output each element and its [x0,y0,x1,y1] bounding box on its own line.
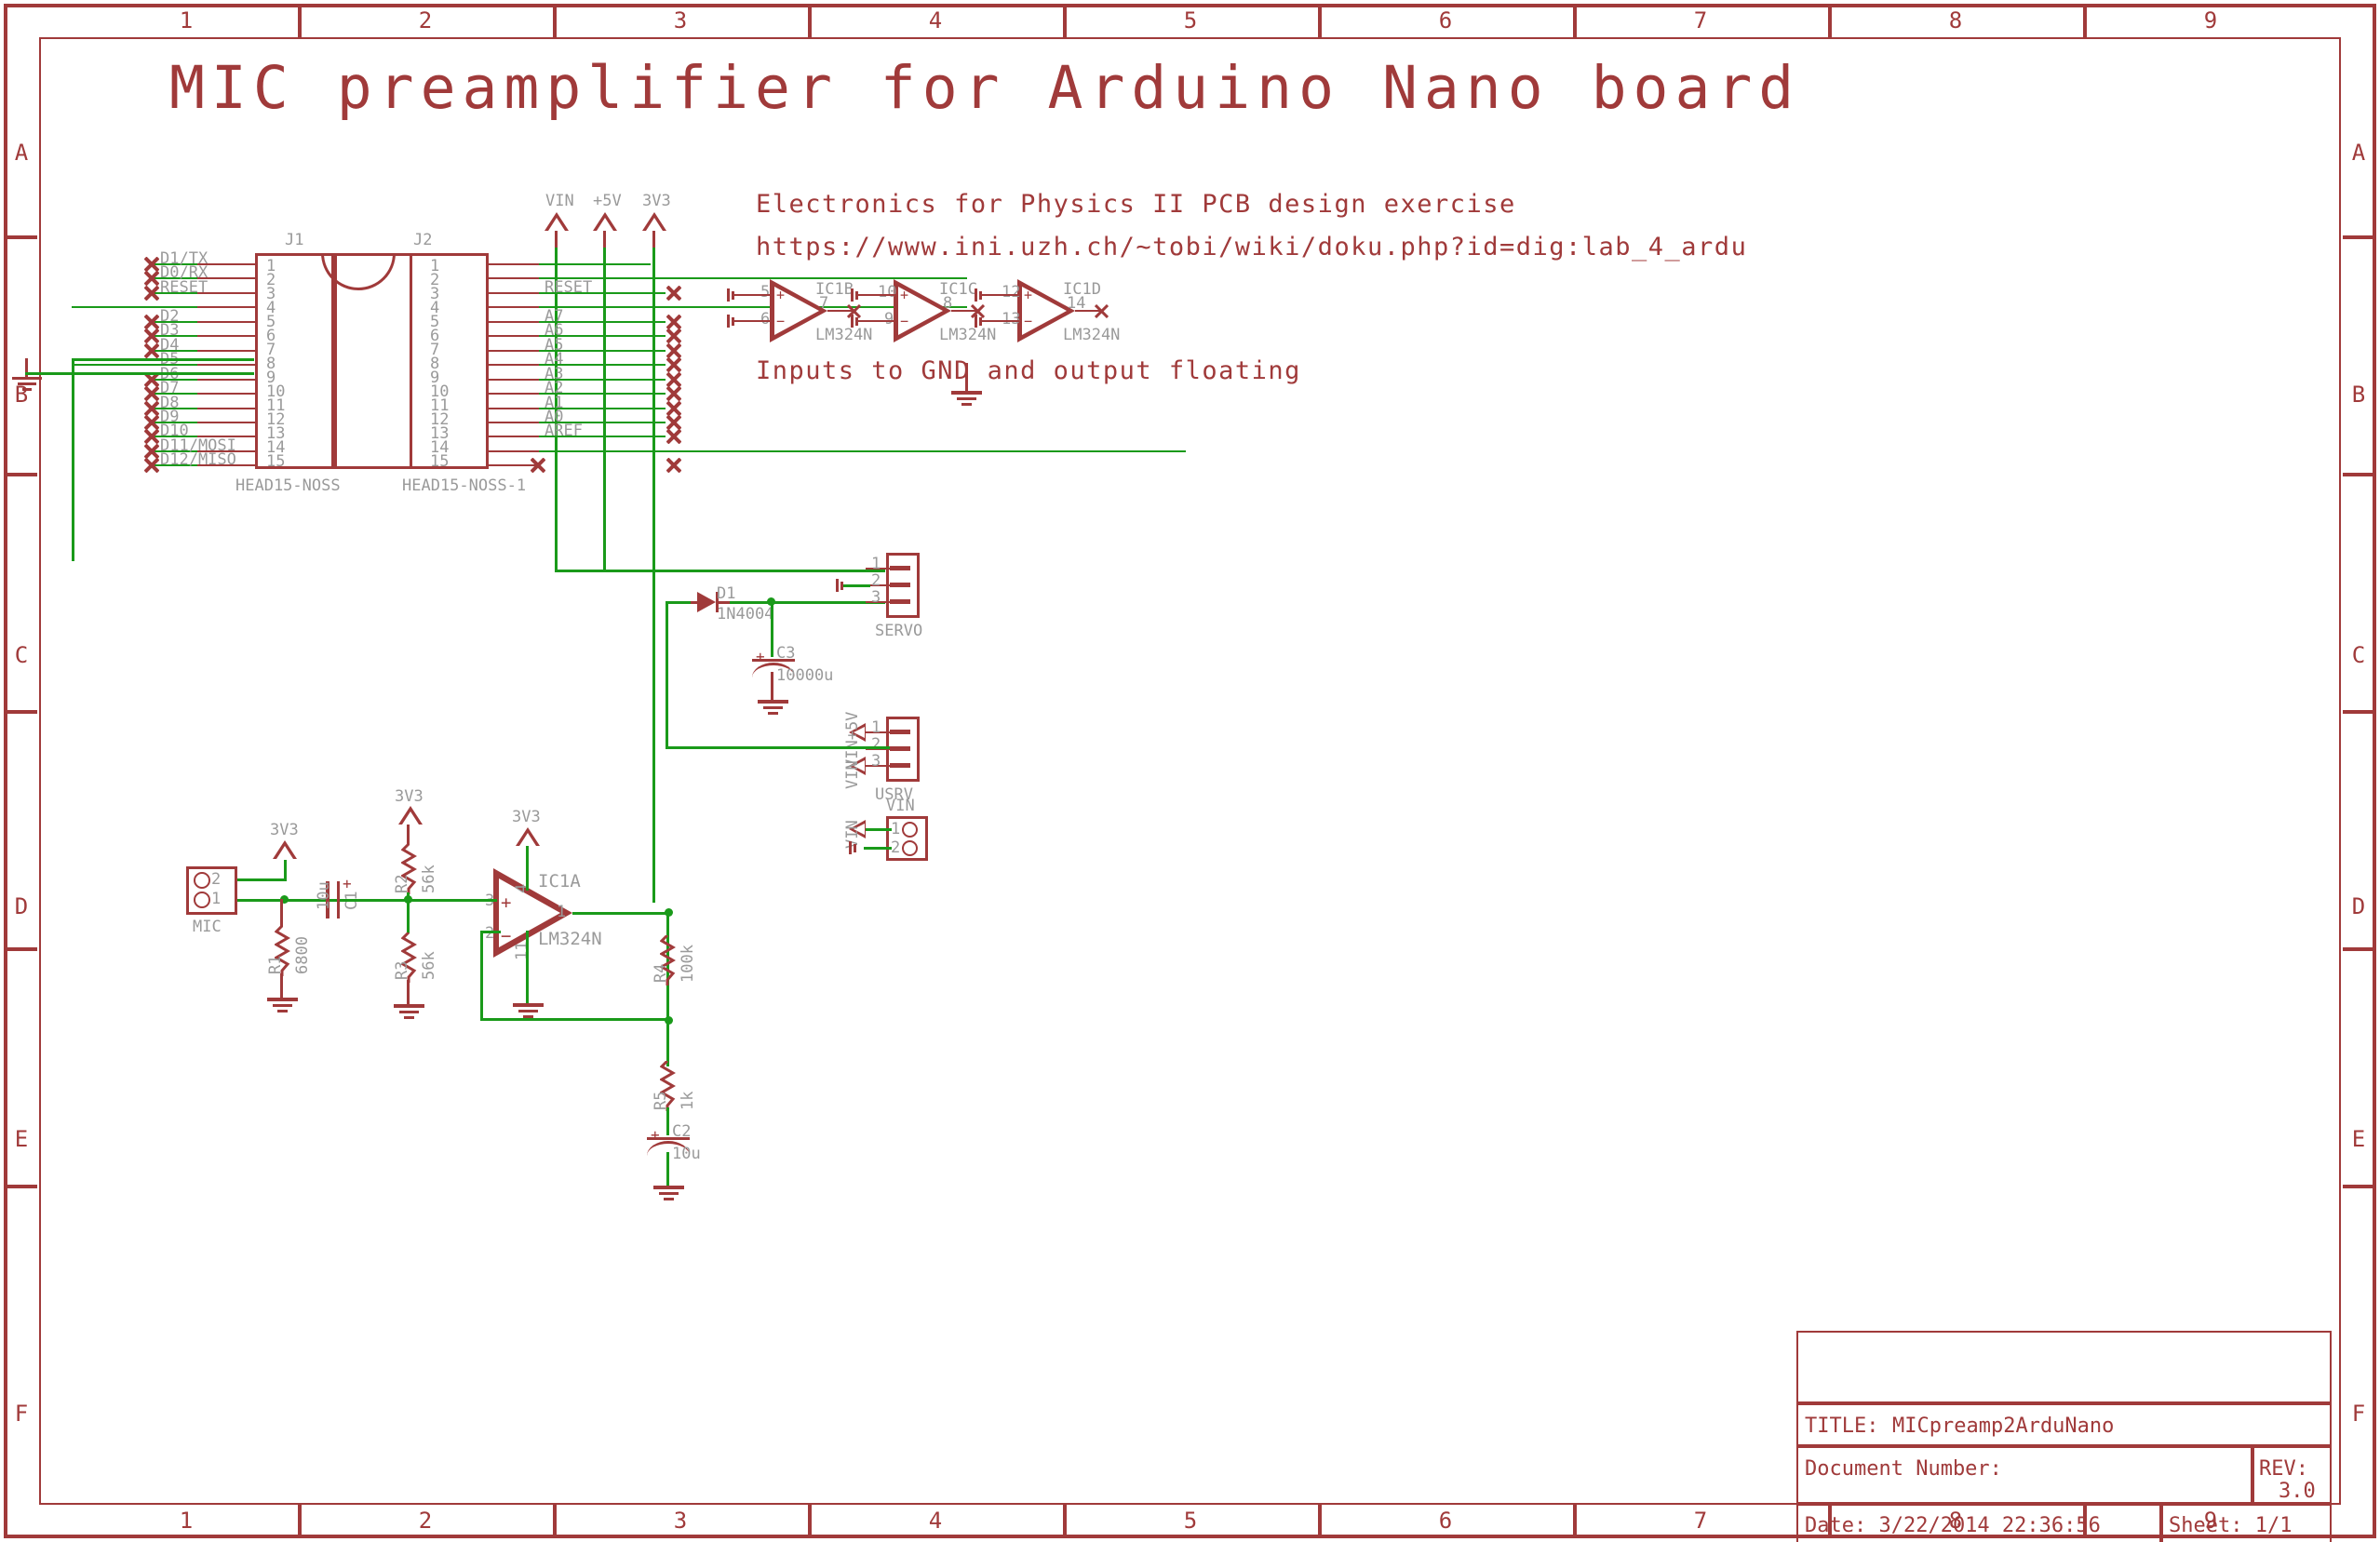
no-connect-marker [144,429,159,444]
j2-pin-stub [488,263,539,265]
j2-net-label: AREF [545,423,583,439]
v5-rail-stem [603,231,606,248]
ic1a-gnd-net [526,931,529,1003]
j1-pin-stub [196,364,256,366]
ruler-tick [2343,1185,2374,1188]
ruler-tick [6,235,37,239]
j2-pin-stub [488,408,539,409]
j1-pin-stub [196,379,256,381]
servo-pin: 2 [871,573,881,589]
ic1a-gnd-bar2 [518,1010,538,1012]
c3-bottom-lead [771,672,773,700]
j1-pin-stub [196,422,256,423]
ruler-row-f: F [6,1401,37,1427]
resistor-r2-value: 56k [422,865,437,893]
opamp-ic1c-minus-sign: − [900,315,908,329]
vin-pad-2 [902,840,918,856]
ruler-col-4-bottom: 4 [852,1508,1019,1534]
ruler-row-d: D [6,893,37,919]
ruler-tick [1573,1505,1577,1536]
ruler-tick [553,6,557,37]
ruler-col-5: 5 [1107,7,1274,34]
ruler-col-6: 6 [1362,7,1529,34]
ic1c-gnd-in1-bar1 [851,288,854,302]
connector-vin-ref: VIN [886,798,915,814]
resistor-r5-value: 1k [680,1092,696,1110]
no-connect-marker [666,429,681,444]
ic1b-gnd-in1-bar1 [727,288,730,302]
resistor-r3-value: 56k [422,951,437,980]
ruler-tick [6,473,37,476]
divider-3v3-rail-inner [402,811,419,825]
ruler-col-3: 3 [597,7,764,34]
j2-pin-stub [488,436,539,437]
resistor-r2-ref: R2 [395,875,410,893]
ruler-tick [6,947,37,951]
connector-mic-ref: MIC [193,919,222,935]
j2-pin-net [539,263,651,265]
mic-pin: 1 [211,892,221,907]
j2-pin-stub [488,321,539,323]
opamp-ic1c-in-minus-wire [856,320,895,322]
c2-gnd-bar3 [664,1198,674,1200]
j2-pin-stub [488,292,539,294]
j1-pin-stub [196,408,256,409]
c3-polarity: + [756,650,765,664]
gnd-symbol-bar3 [22,388,32,391]
vin-conn-lead-1 [864,828,892,831]
ruler-tick [808,6,812,37]
opamp-ic1d-device: LM324N [1063,328,1120,343]
gnd-net-to-symbol [25,372,74,375]
j2-pin-stub [488,335,539,337]
power-label-5v: +5V [593,194,622,209]
j2-pin-stub [488,422,539,423]
usrv-pin: 1 [871,720,881,736]
ic1a-vcc-net [526,846,529,891]
usrv-pad-1 [890,730,910,734]
j2-gnd-bar2 [957,397,976,400]
c3-gnd-bar1 [758,700,788,704]
opamp-ic1c-in-plus-wire [856,294,895,296]
v3v3-rail-stem [652,231,655,248]
ruler-tick [1573,6,1577,37]
j2-pin-stub [488,379,539,381]
schematic-sheet: 1 2 3 4 5 6 7 8 9 1 2 3 4 5 6 7 8 9 A B … [0,0,2380,1542]
no-connect-marker [531,458,545,473]
ruler-row-b: B [6,382,37,408]
ruler-row-a: A [6,140,37,166]
ruler-tick [1318,1505,1322,1536]
j1-pin-stub [196,321,256,323]
no-connect-marker [144,343,159,358]
usrv-pad-3 [890,763,910,768]
opamp-ic1a-device: LM324N [538,931,602,948]
header-j1-pin: 15 [266,454,285,470]
vin-conn-lead-2 [864,847,892,850]
ruler-row-a-right: A [2343,140,2374,166]
d1-ref: D1 [717,586,735,602]
ruler-col-1-bottom: 1 [102,1508,270,1534]
ruler-row-e: E [6,1126,37,1152]
ic1d-gnd-in1-bar1 [975,288,977,302]
ruler-col-1: 1 [102,7,270,34]
ruler-col-7-bottom: 7 [1617,1508,1784,1534]
ic1c-gnd-in1-bar2 [855,291,858,300]
opamp-ic1d-plus-sign: + [1024,288,1032,302]
ic1c-gnd-in2-bar1 [851,315,854,328]
opamp-ic1b-in-minus-wire [733,320,772,322]
j1-net-label: D12/MISO [160,452,236,468]
header-j2-device: HEAD15-NOSS-1 [402,478,526,494]
r2-lead-top [407,825,410,845]
opamp-ic1b-pin-plus: 5 [760,285,770,301]
mic-pad-1 [194,892,210,908]
opamp-ic1a-minus-sign: − [501,928,511,945]
capacitor-c1-value: 10u [316,881,332,910]
servo-pin: 3 [871,590,881,606]
ruler-tick [808,1505,812,1536]
ruler-col-2-bottom: 2 [342,1508,509,1534]
j2-pin-stub [488,277,539,279]
opamp-ic1d-in-minus-wire [980,320,1019,322]
no-connect-marker [666,372,681,387]
no-connect-marker [144,444,159,459]
opamp-ic1d-minus-sign: − [1024,315,1032,329]
mic-pin2-net [237,878,287,881]
ruler-tick [553,1505,557,1536]
opamp-ic1c-device: LM324N [939,328,996,343]
no-connect-marker [666,329,681,343]
gnd-symbol-bar1 [12,377,42,380]
v3v3-rail-inner [646,218,663,231]
title-block-rev-label: REV: [2259,1457,2308,1481]
vin-rail-inner [548,218,565,231]
usrv-pin2-net [666,746,890,749]
note-line-3: Inputs to GND and output floating [756,356,1301,385]
mic-3v3-label: 3V3 [270,823,299,838]
usrv-net-label-vin: VIN [845,760,861,789]
c2-gnd-bar2 [659,1192,679,1195]
title-block-title-value: MICpreamp2ArduNano [1892,1415,2114,1438]
r3-gnd-bar1 [394,1004,424,1008]
ic1a-feedback-net-up [480,931,483,1021]
no-connect-marker [666,458,681,473]
vin-pad-1 [902,822,918,838]
title-block-docnum-label: Document Number: [1805,1457,2002,1481]
j1-gnd-branch [72,364,155,366]
title-block: TITLE: MICpreamp2ArduNano Document Numbe… [1796,1331,2332,1531]
ruler-col-9: 9 [2127,7,2294,34]
resistor-r4-ref: R4 [653,964,669,983]
usrv-pad-2 [890,746,910,751]
ic1a-in-minus-net [480,931,501,933]
v5-rail-inner [597,218,613,231]
v5-rail-net [603,248,606,417]
c3-gnd-bar2 [763,706,783,709]
no-connect-marker [666,386,681,401]
mic-pin: 2 [211,872,221,888]
ic1b-gnd-in2-bar1 [727,315,730,328]
ruler-tick [2083,6,2087,37]
ruler-row-b-right: B [2343,382,2374,408]
servo-top-feed [624,570,885,572]
j2-gnd-bar3 [961,403,972,406]
ruler-tick [6,1185,37,1188]
opamp-ic1c-pin-plus: 10 [878,285,896,301]
divider-3v3-label: 3V3 [395,789,424,805]
usrv-pin: 2 [871,737,881,753]
no-connect-marker [144,401,159,416]
ruler-col-2: 2 [342,7,509,34]
ruler-col-7: 7 [1617,7,1784,34]
c2-bottom-net [666,1152,669,1186]
ic1b-out-nc-marker [847,304,861,318]
capacitor-c2-value: 10u [672,1146,701,1162]
d1-diode-triangle [697,592,716,612]
servo-pin2-gnd-net [842,584,870,587]
opamp-ic1b-in-plus-wire [733,294,772,296]
servo-pin: 1 [871,556,881,572]
j2-gnd-stem [965,363,968,391]
r1-gnd-bar2 [273,1004,292,1007]
r1-gnd-bar1 [267,998,298,1001]
resistor-r4-value: 100k [680,945,696,983]
ic1a-gnd-bar1 [513,1003,544,1007]
ruler-col-5-bottom: 5 [1107,1508,1274,1534]
ic1d-out-nc-marker [1095,304,1109,318]
ic1c-out-nc-marker [971,304,985,318]
ruler-row-c: C [6,642,37,668]
resistor-r1-value: 6800 [295,936,311,974]
opamp-ic1a-ref: IC1A [538,873,581,891]
no-connect-marker [666,401,681,416]
ruler-row-d-right: D [2343,893,2374,919]
d1-out-net [730,601,885,604]
v3v3-feed-long [652,558,655,903]
ruler-col-8: 8 [1872,7,2039,34]
r5-lead-top [666,1018,669,1066]
r1-lead-top [280,899,283,927]
no-connect-marker [666,343,681,358]
j2-pin-stub [488,364,539,366]
ruler-row-c-right: C [2343,642,2374,668]
vin-conn-gnd-bar2 [854,844,856,852]
power-label-3v3: 3V3 [642,194,671,209]
ic1c-gnd-in2-bar2 [855,317,858,326]
servo-pad-3 [890,599,910,604]
no-connect-marker [666,357,681,372]
no-connect-marker [144,458,159,473]
no-connect-marker [144,286,159,301]
j2-pin-stub [488,350,539,352]
r5-lead-bottom [666,1107,669,1135]
opamp-ic1b-device: LM324N [815,328,872,343]
ruler-row-f-right: F [2343,1401,2374,1427]
ruler-tick [2343,235,2374,239]
vin-conn-pin: 2 [891,840,900,856]
opamp-3v3-label: 3V3 [512,810,541,825]
c1-polarity: + [343,877,352,892]
title-block-sheet: Sheet: 1/1 [2169,1514,2292,1537]
no-connect-marker [144,257,159,272]
c3-top-net [771,601,773,657]
note-line-1: Electronics for Physics II PCB design ex… [756,190,1516,219]
no-connect-marker [666,315,681,329]
c3-value: 10000u [776,668,833,684]
ruler-tick [2343,947,2374,951]
ic1d-gnd-in2-bar2 [979,317,982,326]
servo-gnd-bar1 [836,579,839,592]
r3-gnd-bar3 [404,1016,414,1019]
ic1d-gnd-in1-bar2 [979,291,982,300]
gnd-symbol-bar2 [18,382,36,385]
j2-gnd-bar1 [951,391,982,395]
ruler-tick [1063,6,1067,37]
usrv-pin: 3 [871,754,881,770]
r1-lead-bottom [280,973,283,998]
ruler-row-e-right: E [2343,1126,2374,1152]
no-connect-marker [666,415,681,430]
ruler-col-4: 4 [852,7,1019,34]
note-line-2: https://www.ini.uzh.ch/~tobi/wiki/doku.p… [756,233,1747,261]
header-j2-ref: J2 [413,233,432,248]
power-label-vin: VIN [545,194,574,209]
ruler-tick [298,1505,302,1536]
no-connect-marker [144,415,159,430]
no-connect-marker [144,386,159,401]
sheet-title: MIC preamplifier for Arduino Nano board [169,54,1800,122]
j2-pin-net [539,450,1186,452]
j1-pin-stub [196,350,256,352]
vin-conn-pin: 1 [891,822,900,838]
j2-pin-stub [488,450,539,452]
ic1b-gnd-in1-bar2 [732,291,734,300]
vin-conn-gnd-bar1 [849,841,852,854]
ruler-tick [6,710,37,714]
ic1d-gnd-in2-bar1 [975,315,977,328]
opamp-ic1d-pin-plus: 12 [1002,285,1020,301]
d1-diode-lead-left [691,601,698,604]
header-j1-device: HEAD15-NOSS [235,478,341,494]
vin-rail-stem [555,231,558,248]
no-connect-marker [666,286,681,301]
j1-net-label: RESET [160,280,208,296]
ruler-tick [2343,710,2374,714]
j1-gnd-net-v [72,358,74,561]
header-j2-divider [410,253,412,469]
capacitor-c2-ref: C2 [672,1124,691,1140]
servo-pad-2 [890,583,910,587]
j1-gnd-net-h2 [72,372,254,375]
resistor-r3-ref: R3 [395,961,410,980]
opamp-ic1b-minus-sign: − [776,315,785,329]
j1-pin-stub [196,306,256,308]
title-block-rev-value: 3.0 [2279,1480,2316,1503]
j1-pin-stub [196,393,256,395]
ruler-tick [1318,6,1322,37]
opamp-ic1c-plus-sign: + [900,288,908,302]
ic1b-gnd-in2-bar2 [732,317,734,326]
no-connect-marker [144,315,159,329]
j2-net-label: RESET [545,280,592,296]
opamp-ic1a-plus-sign: + [501,894,511,912]
usrv-pin2-net-up [666,601,668,749]
ruler-tick [1063,1505,1067,1536]
v5-feed-down [603,415,606,570]
ruler-col-6-bottom: 6 [1362,1508,1529,1534]
mic-pad-2 [194,872,210,889]
header-j2-pin: 15 [430,454,449,470]
r1-gnd-bar3 [277,1010,288,1012]
d1-value: 1N4004 [717,607,773,623]
ic1a-out-net [572,912,668,915]
ruler-tick [2343,473,2374,476]
opamp-ic1b-plus-sign: + [776,288,785,302]
connector-servo-ref: SERVO [875,624,922,639]
r3-lead-bottom [407,980,410,1004]
c2-polarity: + [651,1128,660,1143]
ruler-tick [298,6,302,37]
ruler-col-3-bottom: 3 [597,1508,764,1534]
ic1a-in-plus-net [407,899,497,902]
title-block-title-label: TITLE: [1805,1415,1878,1438]
title-block-logo-cell [1796,1331,2332,1403]
c3-ref: C3 [776,646,795,662]
ruler-tick [1828,6,1832,37]
title-block-date: Date: 3/22/2014 22:36:56 [1805,1514,2101,1537]
c3-gnd-bar3 [768,712,778,715]
no-connect-marker [144,329,159,343]
servo-pad-1 [890,566,910,570]
no-connect-marker [144,271,159,286]
header-j1-ref: J1 [285,233,303,248]
servo-gnd-bar2 [840,582,843,590]
opamp-3v3-rail-inner [519,833,536,846]
mic-3v3-rail-inner [276,846,293,859]
j1-gnd-net-h1 [72,358,254,361]
vin-feed-down [555,460,558,571]
ic1a-feedback-net-h [480,1018,669,1021]
mic-pin2-net-up [284,860,287,881]
header-j2-body[interactable] [410,253,489,469]
opamp-ic1a-pin-out: 1 [557,905,566,920]
r3-gnd-bar2 [399,1011,419,1013]
j2-pin-stub [488,393,539,395]
opamp-ic1d-in-plus-wire [980,294,1019,296]
c2-gnd-bar1 [653,1186,684,1189]
j1-pin-stub [196,335,256,337]
resistor-r1-ref: R1 [268,956,284,974]
j2-pin-stub [488,306,539,308]
opamp-ic1a-pin-minus: 2 [485,926,494,942]
